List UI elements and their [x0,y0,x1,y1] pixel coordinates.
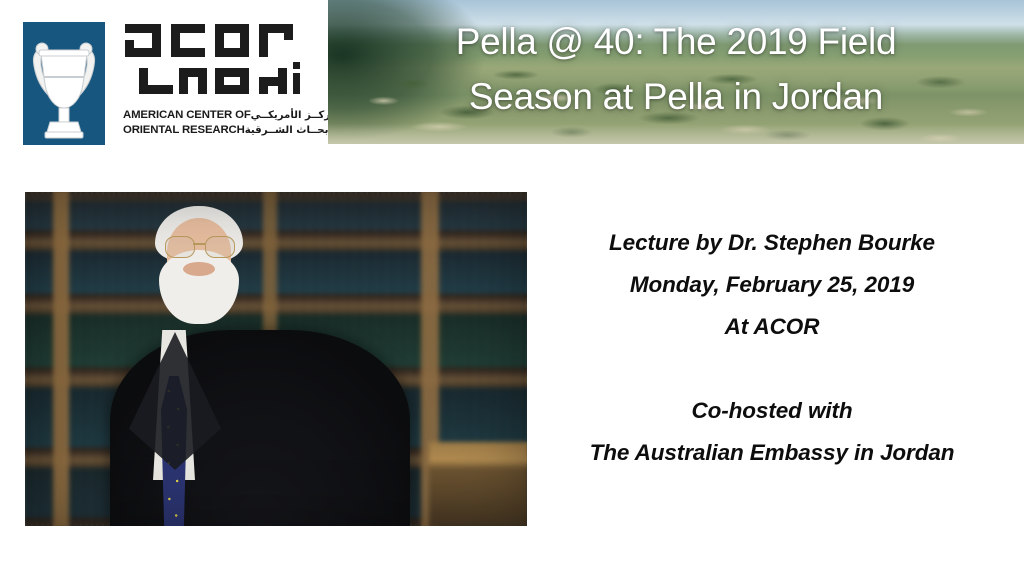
krater-vase-icon [23,22,105,145]
lecture-by-line: Lecture by Dr. Stephen Bourke [548,222,996,264]
acor-tagline-line2-en: ORIENTAL RESEARCH [123,123,245,137]
acor-logo: AMERICAN CENTER OF المركــز الأمريكــي O… [0,0,320,160]
acor-wordmark [123,18,313,108]
details-spacer [548,348,996,390]
eyeglass-lens-left [165,236,195,258]
cohost-name-line: The Australian Embassy in Jordan [548,432,996,474]
speaker-mouth [183,262,215,276]
speaker-portrait-photo [25,192,527,526]
acor-tagline-line1-en: AMERICAN CENTER OF [123,108,251,122]
title-banner: Pella @ 40: The 2019 Field Season at Pel… [328,0,1024,144]
eyeglass-bridge [193,243,205,245]
cohost-label-line: Co-hosted with [548,390,996,432]
eyeglass-lens-right [205,236,235,258]
slide-title: Pella @ 40: The 2019 Field Season at Pel… [328,14,1024,124]
speaker-eyeglasses [161,236,237,258]
slide-title-line-1: Pella @ 40: The 2019 Field [336,14,1016,69]
slide-title-line-2: Season at Pella in Jordan [336,69,1016,124]
event-details-block: Lecture by Dr. Stephen Bourke Monday, Fe… [548,222,996,474]
acor-wordmark-graphic [123,18,313,108]
event-venue-line: At ACOR [548,306,996,348]
acor-logo-tagline: AMERICAN CENTER OF المركــز الأمريكــي O… [123,108,319,138]
acor-tagline-line2-ar: للأبحــاث الشــرقية [245,124,341,138]
acor-logo-mark [23,22,105,145]
slide-header: AMERICAN CENTER OF المركــز الأمريكــي O… [0,0,1024,160]
speaker-head [153,206,245,324]
event-date-line: Monday, February 25, 2019 [548,264,996,306]
